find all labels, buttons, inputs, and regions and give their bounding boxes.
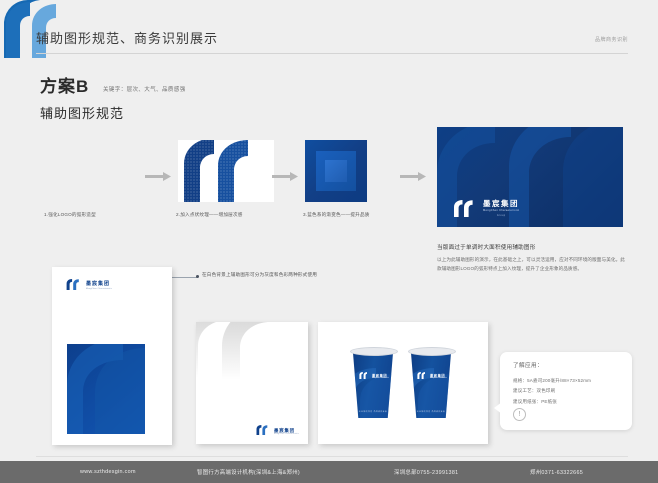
paper-cup-1: 墨宸集团 MengChen Charaeteristic 专业铸就品质 品牌成就… bbox=[350, 350, 396, 418]
callout-spec-line: 规格：5A盎司200毫升/88×73×52mm bbox=[513, 376, 591, 386]
spec-callout: 了解应用： 规格：5A盎司200毫升/88×73×52mm 建议工艺：双色印刷 … bbox=[500, 352, 632, 430]
header-divider bbox=[36, 53, 628, 54]
banner-description-body: 以上为此辅助图形的演示，在此基础之上，可以灵活运用，应对不同环境的版面与美化。此… bbox=[437, 256, 625, 273]
m-logo-blue-icon bbox=[256, 425, 271, 435]
step-2-caption: 2.加入点状纹理——增加层次感 bbox=[176, 212, 243, 218]
gradient-swatch-core bbox=[325, 160, 347, 182]
folder-logo: 墨宸集团 MengChen Charaeteristic bbox=[66, 279, 112, 290]
annotation-anchor-dot bbox=[196, 275, 199, 278]
arrow-right-icon-2 bbox=[272, 168, 298, 177]
folder-logo-en: MengChen Charaeteristic bbox=[86, 288, 112, 290]
m-logo-textured-icon bbox=[178, 140, 274, 202]
step-3-caption: 3.蓝色系的渐变色——提升品质 bbox=[303, 212, 370, 218]
m-logo-white-icon bbox=[453, 200, 479, 217]
arrow-right-icon-1 bbox=[145, 168, 171, 177]
plan-title: 方案B bbox=[40, 72, 89, 97]
step-1-caption: 1.强化LOGO的弧形造型 bbox=[44, 212, 96, 218]
annotation-text: 在白色背景上辅助图形可分为灰度和色彩两种形式使用 bbox=[202, 270, 322, 279]
step-3-gradient-swatch bbox=[305, 140, 367, 202]
mockup-card: 墨宸集团 MengChen Charaeteristic bbox=[196, 322, 308, 444]
folder-logo-cn: 墨宸集团 bbox=[86, 282, 112, 287]
cup-rim-1 bbox=[350, 347, 398, 356]
card-logo-en: MengChen Charaeteristic bbox=[274, 433, 299, 435]
callout-spec-list: 规格：5A盎司200毫升/88×73×52mm 建议工艺：双色印刷 建议用纸张：… bbox=[513, 376, 591, 407]
banner-logo-en: MengChen Charaeteristic bbox=[483, 209, 519, 213]
exclamation-icon: ! bbox=[513, 408, 526, 421]
mockup-folder: 墨宸集团 MengChen Charaeteristic bbox=[52, 267, 172, 445]
banner-description-title: 当版面过于单调时大面积使用辅助图形 bbox=[437, 243, 627, 251]
plan-keywords: 关键字：层次、大气、品质感强 bbox=[103, 85, 186, 93]
callout-title: 了解应用： bbox=[513, 361, 543, 369]
banner-logo-cn: 墨宸集团 bbox=[483, 200, 519, 208]
cup-graphic-arcs bbox=[408, 350, 454, 418]
folder-cover-panel bbox=[67, 344, 145, 434]
folder-panel-arcs bbox=[67, 344, 145, 434]
footer-divider bbox=[36, 456, 628, 457]
cup-logo-en: MengChen Charaeteristic bbox=[430, 378, 447, 379]
cup-footer-text: 专业铸就品质 品牌成就未来 bbox=[350, 410, 396, 413]
cup-footer-text: 专业铸就品质 品牌成就未来 bbox=[408, 410, 454, 413]
footer-phone-zhengzhou: 郑州0371-63322665 bbox=[530, 468, 583, 476]
step-2-logo-textured bbox=[178, 140, 274, 202]
m-logo-blue-icon bbox=[66, 279, 83, 290]
footer-phone-hq: 深圳总部0755-23991381 bbox=[394, 468, 458, 476]
page-title: 辅助图形规范、商务识别展示 bbox=[36, 28, 218, 47]
cup-rim-2 bbox=[408, 347, 456, 356]
page-header: 辅助图形规范、商务识别展示 品牌商务识别 bbox=[0, 25, 658, 55]
callout-spec-line: 建议工艺：双色印刷 bbox=[513, 386, 591, 396]
cup-logo-2: 墨宸集团 MengChen Charaeteristic bbox=[417, 372, 447, 379]
m-logo-white-icon bbox=[359, 372, 370, 379]
header-category-label: 品牌商务识别 bbox=[595, 36, 628, 43]
cup-logo-en: MengChen Charaeteristic bbox=[372, 378, 389, 379]
section-title: 辅助图形规范 bbox=[40, 103, 124, 122]
arrow-right-icon-3 bbox=[400, 168, 426, 177]
footer-website[interactable]: www.szthdesgin.com bbox=[80, 469, 136, 475]
page-footer: www.szthdesgin.com 智图行方高端设计机构(深圳&上海&郑州) … bbox=[0, 461, 658, 483]
cup-graphic-arcs bbox=[350, 350, 396, 418]
paper-cup-2: 墨宸集团 MengChen Charaeteristic 专业铸就品质 品牌成就… bbox=[408, 350, 454, 418]
brand-banner-preview: 墨宸集团 MengChen Charaeteristic Group bbox=[437, 127, 623, 227]
page-canvas: 辅助图形规范、商务识别展示 品牌商务识别 方案B 关键字：层次、大气、品质感强 … bbox=[0, 0, 658, 483]
callout-spec-line: 建议用纸张：PE纸张 bbox=[513, 397, 591, 407]
banner-logo-sub: Group bbox=[483, 214, 519, 217]
m-logo-white-icon bbox=[417, 372, 428, 379]
banner-logo: 墨宸集团 MengChen Charaeteristic Group bbox=[453, 200, 519, 217]
card-logo: 墨宸集团 MengChen Charaeteristic bbox=[256, 425, 299, 435]
cup-logo-1: 墨宸集团 MengChen Charaeteristic bbox=[359, 372, 389, 379]
mockup-paper-cups: 墨宸集团 MengChen Charaeteristic 专业铸就品质 品牌成就… bbox=[318, 322, 488, 444]
footer-company: 智图行方高端设计机构(深圳&上海&郑州) bbox=[197, 468, 300, 476]
